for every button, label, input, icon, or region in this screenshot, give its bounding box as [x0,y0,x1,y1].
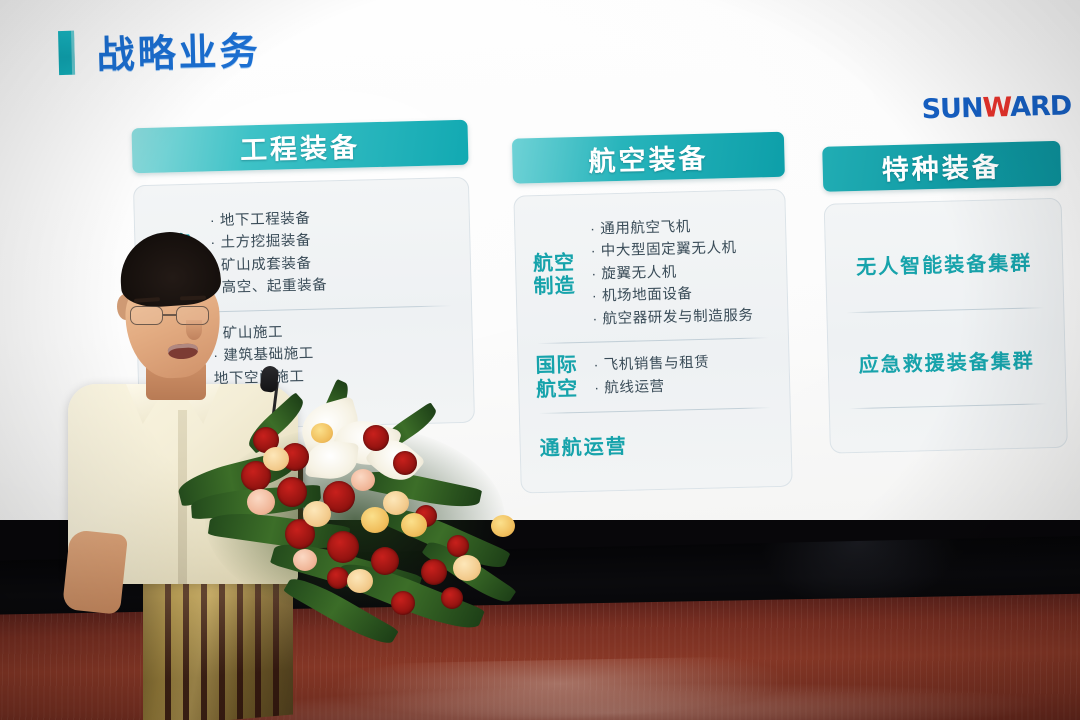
glasses-lens-left [130,306,163,325]
list-item: 中大型固定翼无人机 [590,237,752,264]
panel-section: 国际 航空 飞机销售与租赁 航线运营 [531,340,777,411]
red-rose [277,477,307,507]
red-rose [391,591,415,615]
speaker-nose [186,320,202,340]
section-label: 航空 制造 [533,252,580,300]
section-bullets: 飞机销售与租赁 航线运营 [593,352,710,400]
cream-rose [347,569,373,593]
panel-header: 工程装备 [131,120,468,173]
pink-rose [351,469,375,491]
section-label: 应急救援装备集群 [858,350,1035,376]
floor-light-reflection [329,656,790,720]
section-label: 国际 航空 [535,354,582,402]
glasses-bridge [163,314,176,316]
panel-body: 航空 制造 通用航空飞机 中大型固定翼无人机 旋翼无人机 机场地面设备 航空器研… [513,189,792,494]
red-rose [393,451,417,475]
panel-section: 应急救援装备集群 [840,310,1052,406]
red-rose [441,587,463,609]
slide-title-row: 战略业务 [58,20,261,80]
panel-section: 无人智能装备集群 [838,214,1050,310]
panel-header: 特种装备 [822,141,1061,192]
yellow-rose [401,513,427,537]
panel-header-label: 特种装备 [881,145,1002,187]
list-item: 航线运营 [594,374,710,399]
panel-section: 航空 制造 通用航空飞机 中大型固定翼无人机 旋翼无人机 机场地面设备 航空器研… [528,205,775,341]
pink-rose [293,549,317,571]
panel-body: 无人智能装备集群 应急救援装备集群 [824,198,1068,454]
section-label: 通航运营 [539,436,628,460]
red-rose [363,425,389,451]
speaker-arm [62,529,128,615]
section-label: 无人智能装备集群 [856,253,1033,279]
panel-header: 航空装备 [512,132,785,184]
flower-arrangement [185,385,515,660]
cream-rose [263,447,289,471]
list-item: 航空器研发与制造服务 [592,304,754,331]
red-rose [327,531,359,563]
cream-rose [383,491,409,515]
red-rose [327,567,349,589]
red-rose [371,547,399,575]
yellow-rose [361,507,389,533]
cream-rose [453,555,481,581]
yellow-rose [311,423,333,443]
panel-header-label: 工程装备 [240,125,361,167]
yellow-rose [491,515,515,537]
panel-special-equipment: 特种装备 无人智能装备集群 应急救援装备集群 [822,141,1068,454]
panel-header-label: 航空装备 [588,137,709,179]
panel-section: 通航运营 [533,410,778,477]
list-item: 地下工程装备 [210,207,326,232]
page-title: 战略业务 [96,20,261,79]
conference-stage-photo: 战略业务 SUNWARD 工程装备 装备 制造 地下 [0,0,1080,720]
cream-rose [303,501,331,527]
glasses-icon [130,306,216,326]
red-rose [447,535,469,557]
list-item: 飞机销售与租赁 [593,352,709,377]
pink-rose [247,489,275,515]
speaker-hair [118,229,223,310]
panel-aviation-equipment: 航空装备 航空 制造 通用航空飞机 中大型固定翼无人机 旋翼无人机 机场地面设备… [512,132,793,493]
title-accent-bar [58,30,75,74]
red-rose [421,559,447,585]
section-bullets: 通用航空飞机 中大型固定翼无人机 旋翼无人机 机场地面设备 航空器研发与制造服务 [590,215,754,331]
